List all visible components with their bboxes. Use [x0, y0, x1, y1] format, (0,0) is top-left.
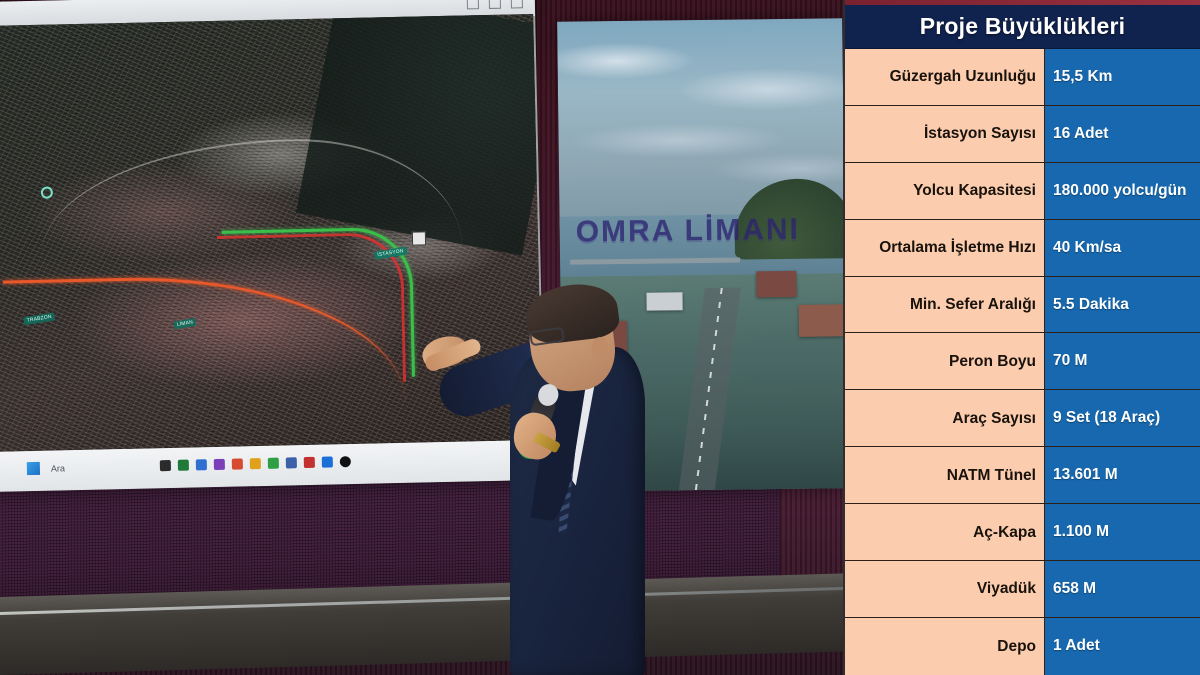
taskbar-icon-5[interactable]: [250, 458, 261, 469]
table-row-label: Ortalama İşletme Hızı: [845, 220, 1045, 276]
table-row-value: 70 M: [1045, 333, 1200, 389]
taskbar-icon-1[interactable]: [178, 460, 189, 471]
presenter-figure: [430, 285, 680, 675]
table-row: Depo1 Adet: [845, 618, 1200, 675]
table-header: Proje Büyüklükleri: [845, 5, 1200, 49]
table-row-value: 1 Adet: [1045, 618, 1200, 675]
table-row-value: 15,5 Km: [1045, 49, 1200, 105]
taskbar-icon-4[interactable]: [232, 458, 243, 469]
table-row: NATM Tünel13.601 M: [845, 447, 1200, 504]
screenshot-stage: TRABZON LİMAN İSTASYON Ara: [0, 0, 1200, 675]
table-row: Güzergah Uzunluğu15,5 Km: [845, 49, 1200, 106]
table-row: Ortalama İşletme Hızı40 Km/sa: [845, 220, 1200, 277]
table-row-value: 1.100 M: [1045, 504, 1200, 560]
project-specs-table: Proje Büyüklükleri Güzergah Uzunluğu15,5…: [843, 0, 1200, 675]
taskbar-icon-6[interactable]: [268, 458, 279, 469]
table-row: İstasyon Sayısı16 Adet: [845, 106, 1200, 163]
taskbar-icon-9[interactable]: [322, 456, 333, 467]
panel-overlay-title: OMRA LİMANI: [576, 213, 801, 250]
table-row-label: Güzergah Uzunluğu: [845, 49, 1045, 105]
maximize-icon[interactable]: [489, 0, 501, 9]
table-row-label: Aç-Kapa: [845, 504, 1045, 560]
table-row: Peron Boyu70 M: [845, 333, 1200, 390]
table-row-value: 40 Km/sa: [1045, 220, 1200, 276]
table-row: Min. Sefer Aralığı5.5 Dakika: [845, 277, 1200, 334]
table-row-label: NATM Tünel: [845, 447, 1045, 503]
table-row-value: 9 Set (18 Araç): [1045, 390, 1200, 446]
table-title: Proje Büyüklükleri: [920, 13, 1126, 40]
start-button-icon[interactable]: [27, 462, 40, 475]
taskbar-icon-2[interactable]: [196, 459, 207, 470]
table-row: Araç Sayısı9 Set (18 Araç): [845, 390, 1200, 447]
table-row-label: Peron Boyu: [845, 333, 1045, 389]
table-row: Aç-Kapa1.100 M: [845, 504, 1200, 561]
minimize-icon[interactable]: [467, 0, 479, 9]
table-row-label: Yolcu Kapasitesi: [845, 163, 1045, 219]
table-row-label: Araç Sayısı: [845, 390, 1045, 446]
taskbar-app-icons[interactable]: [160, 456, 351, 471]
close-icon[interactable]: [511, 0, 523, 8]
table-row: Viyadük658 M: [845, 561, 1200, 618]
table-body: Güzergah Uzunluğu15,5 Kmİstasyon Sayısı1…: [845, 49, 1200, 675]
table-row-label: İstasyon Sayısı: [845, 106, 1045, 162]
presenter-ear: [592, 337, 608, 357]
taskbar-icon-7[interactable]: [286, 457, 297, 468]
table-row-value: 658 M: [1045, 561, 1200, 617]
table-row-label: Depo: [845, 618, 1045, 675]
building: [756, 271, 796, 297]
table-row-value: 180.000 yolcu/gün: [1045, 163, 1200, 219]
venue-photo: TRABZON LİMAN İSTASYON Ara: [0, 0, 845, 675]
table-row-label: Min. Sefer Aralığı: [845, 277, 1045, 333]
table-row-label: Viyadük: [845, 561, 1045, 617]
building: [799, 304, 845, 337]
taskbar-icon-8[interactable]: [304, 457, 315, 468]
taskbar-search-label[interactable]: Ara: [51, 463, 65, 473]
table-row: Yolcu Kapasitesi180.000 yolcu/gün: [845, 163, 1200, 220]
table-row-value: 16 Adet: [1045, 106, 1200, 162]
taskbar-icon-10[interactable]: [340, 456, 351, 467]
table-row-value: 13.601 M: [1045, 447, 1200, 503]
map-marker-icon: [412, 231, 426, 245]
taskbar-icon-3[interactable]: [214, 459, 225, 470]
table-row-value: 5.5 Dakika: [1045, 277, 1200, 333]
taskbar-icon-0[interactable]: [160, 460, 171, 471]
